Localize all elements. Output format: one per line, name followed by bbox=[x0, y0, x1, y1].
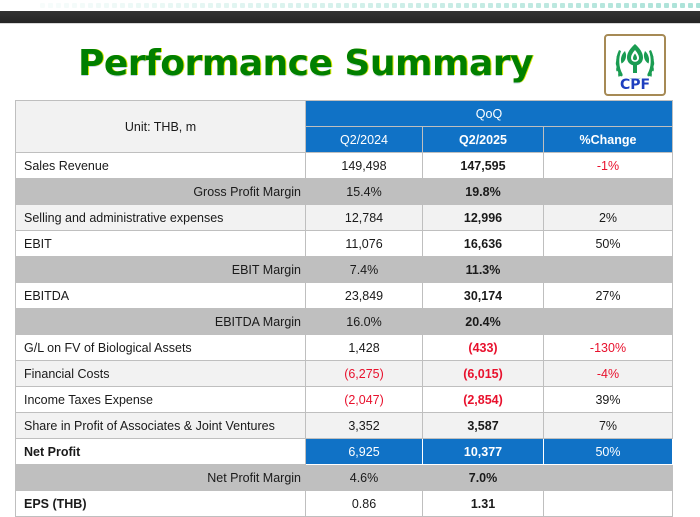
window-titlebar bbox=[0, 11, 700, 23]
cell-prev: 6,925 bbox=[306, 439, 423, 465]
cell-prev: 23,849 bbox=[306, 283, 423, 309]
row-label: Share in Profit of Associates & Joint Ve… bbox=[16, 413, 306, 439]
cell-prev: 0.86 bbox=[306, 491, 423, 517]
table-row: Income Taxes Expense(2,047)(2,854)39% bbox=[16, 387, 673, 413]
row-label: G/L on FV of Biological Assets bbox=[16, 335, 306, 361]
cell-change: -1% bbox=[544, 153, 673, 179]
table-row: Net Profit Margin4.6%7.0% bbox=[16, 465, 673, 491]
cell-prev: 3,352 bbox=[306, 413, 423, 439]
row-label: Sales Revenue bbox=[16, 153, 306, 179]
cell-current: 30,174 bbox=[423, 283, 544, 309]
table-body: Sales Revenue149,498147,595-1%Gross Prof… bbox=[16, 153, 673, 517]
financials-table: Unit: THB, m QoQ Q2/2024 Q2/2025 %Change… bbox=[15, 100, 673, 517]
cell-change: 2% bbox=[544, 205, 673, 231]
cell-prev: 1,428 bbox=[306, 335, 423, 361]
cell-prev: 149,498 bbox=[306, 153, 423, 179]
column-header-prev: Q2/2024 bbox=[306, 127, 423, 153]
unit-header-cell: Unit: THB, m bbox=[16, 101, 306, 153]
cell-current: 12,996 bbox=[423, 205, 544, 231]
cell-current: 20.4% bbox=[423, 309, 544, 335]
cpf-wordmark: CPF bbox=[620, 77, 650, 93]
cell-change bbox=[544, 465, 673, 491]
row-label: Gross Profit Margin bbox=[16, 179, 306, 205]
row-label: EBIT bbox=[16, 231, 306, 257]
table-row: Sales Revenue149,498147,595-1% bbox=[16, 153, 673, 179]
cell-current: (6,015) bbox=[423, 361, 544, 387]
group-header-qoq: QoQ bbox=[306, 101, 673, 127]
table-row: Gross Profit Margin15.4%19.8% bbox=[16, 179, 673, 205]
window-dot-strip bbox=[0, 0, 700, 11]
cell-change: 50% bbox=[544, 231, 673, 257]
cell-current: 1.31 bbox=[423, 491, 544, 517]
table-row: EBITDA Margin16.0%20.4% bbox=[16, 309, 673, 335]
cell-current: 147,595 bbox=[423, 153, 544, 179]
cell-prev: 7.4% bbox=[306, 257, 423, 283]
cell-current: 3,587 bbox=[423, 413, 544, 439]
table-row: Share in Profit of Associates & Joint Ve… bbox=[16, 413, 673, 439]
cell-change: -130% bbox=[544, 335, 673, 361]
cell-change bbox=[544, 257, 673, 283]
cell-change: 27% bbox=[544, 283, 673, 309]
row-label: Financial Costs bbox=[16, 361, 306, 387]
slide-canvas: Performance Summary bbox=[0, 24, 700, 483]
cell-change: -4% bbox=[544, 361, 673, 387]
performance-summary-table: Unit: THB, m QoQ Q2/2024 Q2/2025 %Change… bbox=[15, 100, 672, 517]
cpf-logo: CPF bbox=[604, 34, 666, 96]
cell-current: 11.3% bbox=[423, 257, 544, 283]
cell-prev: 16.0% bbox=[306, 309, 423, 335]
page-title: Performance Summary bbox=[78, 43, 533, 84]
row-label: Net Profit bbox=[16, 439, 306, 465]
cell-change bbox=[544, 179, 673, 205]
cell-change bbox=[544, 309, 673, 335]
cell-change bbox=[544, 491, 673, 517]
table-head: Unit: THB, m QoQ Q2/2024 Q2/2025 %Change bbox=[16, 101, 673, 153]
cell-prev: (2,047) bbox=[306, 387, 423, 413]
table-row: Financial Costs(6,275)(6,015)-4% bbox=[16, 361, 673, 387]
cell-change: 7% bbox=[544, 413, 673, 439]
table-row: G/L on FV of Biological Assets1,428(433)… bbox=[16, 335, 673, 361]
row-label: EBIT Margin bbox=[16, 257, 306, 283]
table-header-row-group: Unit: THB, m QoQ bbox=[16, 101, 673, 127]
cell-prev: 12,784 bbox=[306, 205, 423, 231]
cell-current: (2,854) bbox=[423, 387, 544, 413]
cell-prev: 11,076 bbox=[306, 231, 423, 257]
table-row: EBIT11,07616,63650% bbox=[16, 231, 673, 257]
cpf-logo-svg: CPF bbox=[606, 36, 664, 94]
cell-prev: 15.4% bbox=[306, 179, 423, 205]
row-label: EBITDA bbox=[16, 283, 306, 309]
table-row: EPS (THB)0.861.31 bbox=[16, 491, 673, 517]
cell-prev: 4.6% bbox=[306, 465, 423, 491]
table-row: EBITDA23,84930,17427% bbox=[16, 283, 673, 309]
row-label: EBITDA Margin bbox=[16, 309, 306, 335]
table-row: Net Profit6,92510,37750% bbox=[16, 439, 673, 465]
cell-current: 10,377 bbox=[423, 439, 544, 465]
cell-current: 7.0% bbox=[423, 465, 544, 491]
dot-pattern bbox=[0, 3, 700, 8]
column-header-cur: Q2/2025 bbox=[423, 127, 544, 153]
row-label: Selling and administrative expenses bbox=[16, 205, 306, 231]
table-row: Selling and administrative expenses12,78… bbox=[16, 205, 673, 231]
cell-change: 50% bbox=[544, 439, 673, 465]
row-label: Net Profit Margin bbox=[16, 465, 306, 491]
row-label: EPS (THB) bbox=[16, 491, 306, 517]
cell-current: 19.8% bbox=[423, 179, 544, 205]
row-label: Income Taxes Expense bbox=[16, 387, 306, 413]
column-header-change: %Change bbox=[544, 127, 673, 153]
cell-current: 16,636 bbox=[423, 231, 544, 257]
table-row: EBIT Margin7.4%11.3% bbox=[16, 257, 673, 283]
cell-prev: (6,275) bbox=[306, 361, 423, 387]
cell-current: (433) bbox=[423, 335, 544, 361]
cell-change: 39% bbox=[544, 387, 673, 413]
